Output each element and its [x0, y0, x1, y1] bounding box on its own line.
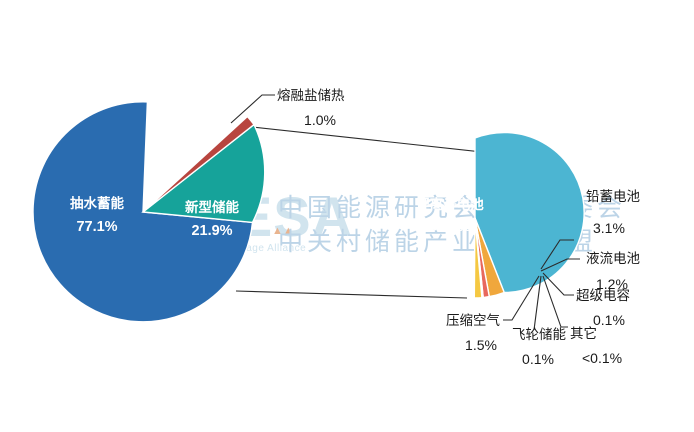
callout-label-others: 其它 — [570, 325, 597, 341]
primary-label-new-storage: 新型储能 — [185, 199, 239, 215]
callout-value-lead-acid: 3.1% — [593, 220, 625, 236]
callout-label-flywheel: 飞轮储能 — [512, 327, 566, 342]
secondary-label-lithium-ion: 锂离子电池 — [416, 196, 484, 212]
callout-label-supercapacitor: 超级电容 — [576, 287, 630, 303]
secondary-value-lithium-ion: 94.0% — [429, 219, 470, 235]
primary-value-new-storage: 21.9% — [191, 223, 232, 239]
primary-label-pumped-hydro: 抽水蓄能 — [70, 195, 124, 211]
callout-label-compressed-air: 压缩空气 — [446, 313, 500, 328]
callout-label-lead-acid: 铅蓄电池 — [586, 189, 640, 204]
callout-value-supercapacitor: 0.1% — [593, 312, 625, 328]
callout-value-others: <0.1% — [582, 350, 622, 366]
chart-canvas: CNESA China Energy Storage Alliance ▲▲ 中… — [0, 0, 694, 432]
callout-value-molten-salt: 1.0% — [304, 112, 336, 128]
callout-value-flywheel: 0.1% — [522, 351, 554, 367]
callout-label-flow-battery: 液流电池 — [586, 251, 640, 266]
callout-label-molten-salt: 熔融盐储热 — [277, 88, 345, 103]
callout-value-compressed-air: 1.5% — [465, 337, 497, 353]
pie-of-pie-chart: CNESA China Energy Storage Alliance ▲▲ 中… — [0, 0, 694, 432]
primary-value-pumped-hydro: 77.1% — [76, 219, 117, 235]
